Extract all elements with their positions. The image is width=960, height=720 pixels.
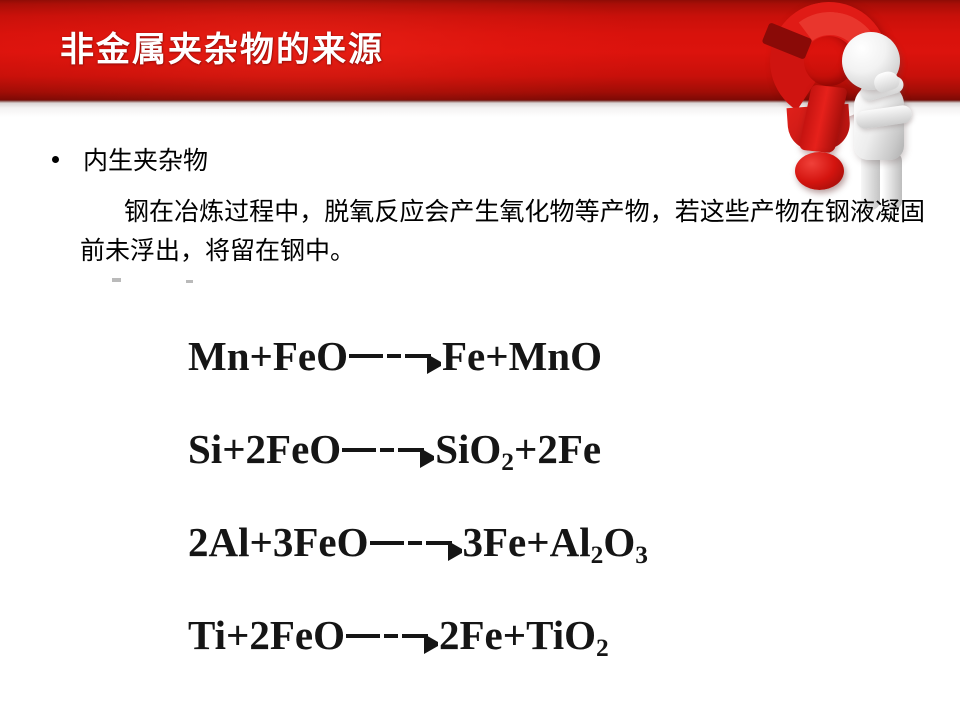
presentation-slide: 非金属夹杂物的来源 内生夹杂物 钢在冶炼过程中，脱氧反应会产生氧化物等产物，若这…: [0, 0, 960, 720]
equation-right-2: O: [603, 519, 635, 565]
artifact-mark-a: [112, 278, 121, 282]
equation-row: 2Al+3FeO3Fe+Al2O3: [188, 502, 888, 595]
thinking-figure-icon: [834, 32, 946, 210]
bullet-item-label: 内生夹杂物: [83, 146, 208, 176]
reaction-arrow-icon: [349, 344, 441, 369]
reaction-arrow-icon: [370, 530, 462, 555]
equation-row: Mn+FeOFe+MnO: [188, 316, 888, 409]
equation-right-2: +2Fe: [514, 426, 601, 472]
equation-row: Ti+2FeO2Fe+TiO2: [188, 595, 888, 688]
reaction-arrow-icon: [342, 437, 434, 462]
reaction-arrow-icon: [346, 623, 438, 648]
question-mark-graphic: [742, 0, 960, 209]
equation-sub-1: 2: [501, 448, 514, 476]
equation-sub-1: 2: [596, 634, 609, 662]
equation-left: Ti+2FeO: [188, 612, 345, 658]
equation-right-1: 3Fe+Al: [463, 519, 591, 565]
equation-row: Si+2FeOSiO2+2Fe: [188, 409, 888, 502]
equation-sub-2: 3: [635, 541, 648, 569]
equation-right-1: SiO: [435, 426, 501, 472]
equation-left: Mn+FeO: [188, 333, 348, 379]
equation-left: Si+2FeO: [188, 426, 341, 472]
equation-sub-1: 2: [591, 541, 604, 569]
artifact-mark-b: [186, 280, 193, 283]
equation-left: 2Al+3FeO: [188, 519, 369, 565]
page-title: 非金属夹杂物的来源: [60, 26, 384, 74]
equation-right-1: 2Fe+TiO: [439, 612, 596, 658]
bullet-item-internal-inclusions: 内生夹杂物: [52, 146, 208, 176]
equation-right-1: Fe+MnO: [442, 333, 602, 379]
bullet-dot-icon: [52, 156, 59, 163]
chemical-equations-block: Mn+FeOFe+MnO Si+2FeOSiO2+2Fe 2Al+3FeO3Fe…: [188, 316, 888, 688]
faint-artifact-marks: [112, 276, 302, 294]
body-paragraph: 钢在冶炼过程中，脱氧反应会产生氧化物等产物，若这些产物在钢液凝固前未浮出，将留在…: [80, 192, 925, 270]
